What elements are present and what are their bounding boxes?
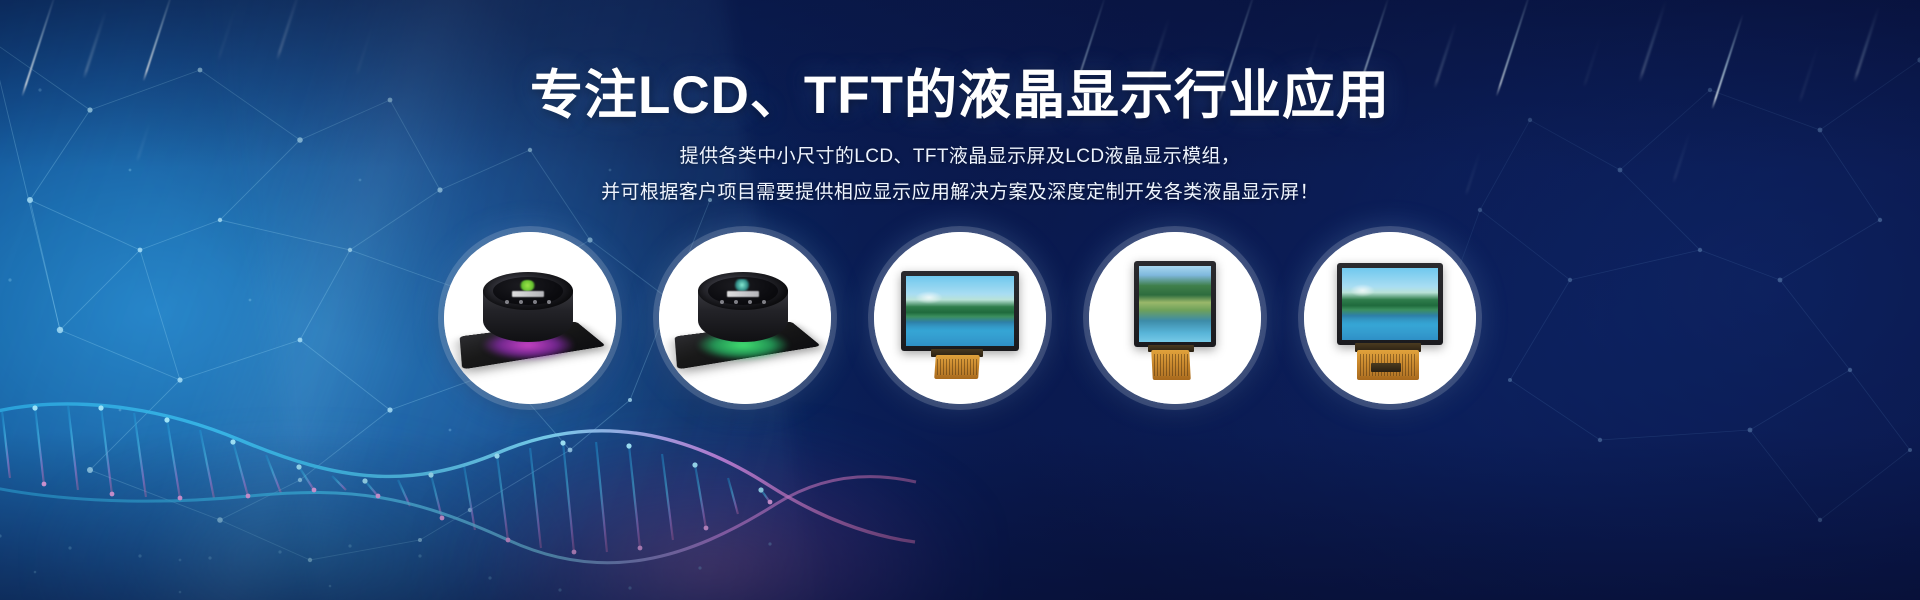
product-circle-smart-speaker-green[interactable] — [659, 232, 831, 404]
product-circle-tft-display-module[interactable] — [1304, 232, 1476, 404]
banner-subtitle: 提供各类中小尺寸的LCD、TFT液晶显示屏及LCD液晶显示模组， 并可根据客户项… — [601, 139, 1319, 211]
speaker-status-icon — [519, 280, 536, 291]
speaker-touch-controls — [505, 300, 551, 304]
speaker-green-graphic — [670, 258, 820, 378]
tft-wide-graphic — [885, 253, 1035, 383]
product-circle-tft-display-square[interactable] — [1089, 232, 1261, 404]
display-panel — [1342, 268, 1438, 340]
display-panel — [1139, 266, 1211, 342]
page-title: 专注LCD、TFT的液晶显示行业应用 — [530, 66, 1390, 125]
product-circle-tft-display-wide[interactable] — [874, 232, 1046, 404]
product-image-smart-speaker-violet — [444, 232, 616, 404]
product-circle-smart-speaker-violet[interactable] — [444, 232, 616, 404]
product-image-smart-speaker-green — [659, 232, 831, 404]
speaker-display-text — [727, 291, 759, 297]
fpc-traces — [937, 359, 977, 375]
product-image-tft-display-wide — [874, 232, 1046, 404]
speaker-violet-graphic — [455, 258, 605, 378]
display-panel — [906, 276, 1014, 346]
fpc-component — [1371, 363, 1401, 372]
tft-square-graphic — [1100, 253, 1250, 383]
hero-banner: 专注LCD、TFT的液晶显示行业应用 提供各类中小尺寸的LCD、TFT液晶显示屏… — [0, 0, 1920, 600]
speaker-display-text — [512, 291, 544, 297]
speaker-touch-controls — [720, 300, 766, 304]
fpc-traces — [1154, 354, 1188, 376]
product-showcase-row — [0, 232, 1920, 404]
product-image-tft-display-square — [1089, 232, 1261, 404]
subtitle-line-2: 并可根据客户项目需要提供相应显示应用解决方案及深度定制开发各类液晶显示屏！ — [601, 175, 1319, 211]
speaker-status-icon — [734, 279, 750, 291]
subtitle-line-1: 提供各类中小尺寸的LCD、TFT液晶显示屏及LCD液晶显示模组， — [601, 139, 1319, 175]
tft-module-graphic — [1315, 253, 1465, 383]
product-image-tft-display-module — [1304, 232, 1476, 404]
